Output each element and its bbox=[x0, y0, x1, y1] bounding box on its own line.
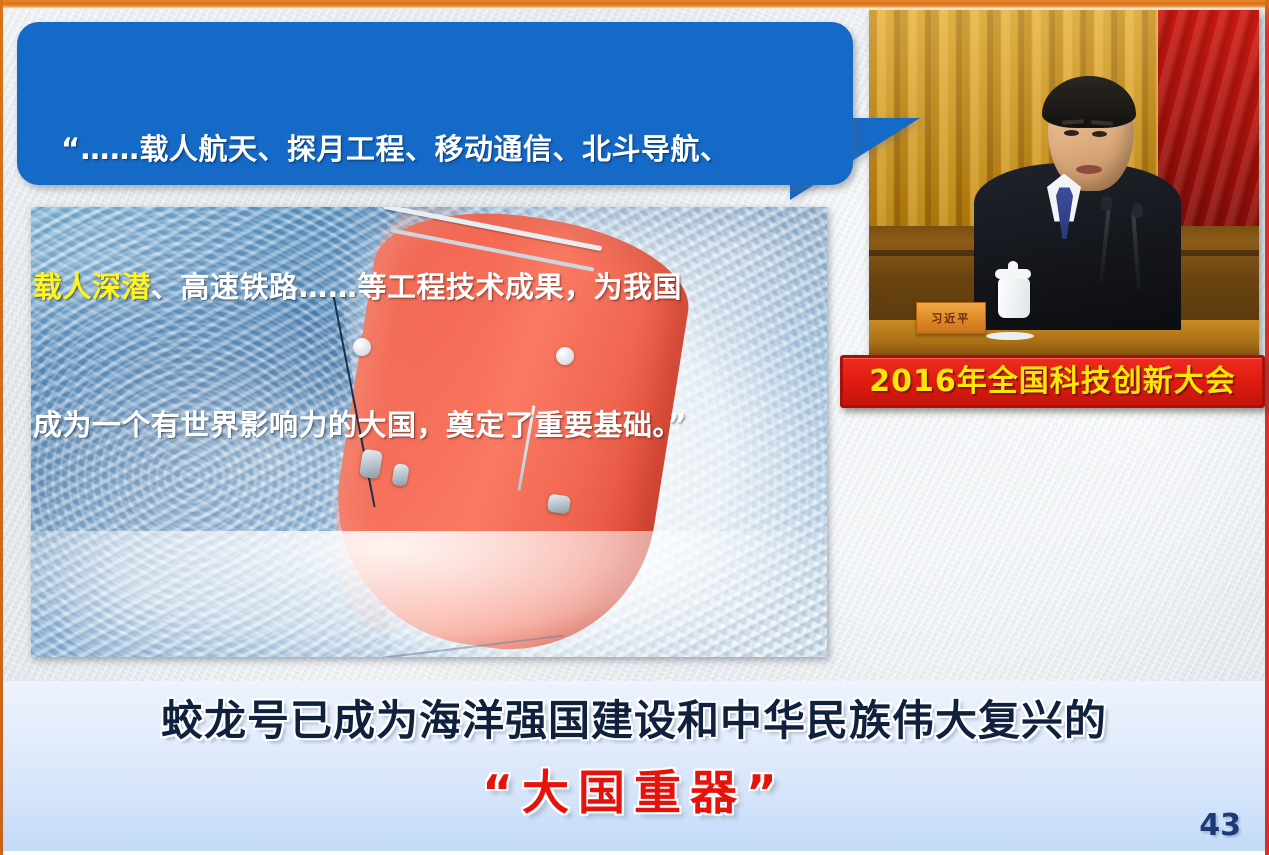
bottom-foam bbox=[31, 531, 827, 657]
conference-banner-label: 2016年全国科技创新大会 bbox=[869, 367, 1236, 397]
quote-line-1: “……载人航天、探月工程、移动通信、北斗导航、 bbox=[33, 126, 837, 172]
caption-line-2: “大国重器” bbox=[3, 765, 1265, 823]
cup-saucer bbox=[986, 332, 1034, 340]
top-orange-band bbox=[0, 0, 1269, 9]
mouth bbox=[1076, 165, 1102, 174]
tea-cup-knob bbox=[1008, 261, 1018, 270]
microphone-head-left bbox=[1101, 196, 1112, 211]
quote-line-2-rest: 、高速铁路……等工程技术成果，为我国 bbox=[151, 270, 682, 304]
tea-cup-lid bbox=[995, 269, 1031, 279]
right-edge-stripe bbox=[1265, 0, 1269, 855]
quote-speech-bubble: “……载人航天、探月工程、移动通信、北斗导航、 载人深潜、高速铁路……等工程技术… bbox=[17, 22, 853, 185]
quote-line-3: 成为一个有世界影响力的大国，奠定了重要基础。” bbox=[33, 402, 837, 448]
desk-nameplate: 习近平 bbox=[916, 302, 986, 334]
microphone-head-right bbox=[1132, 203, 1143, 218]
eye-left bbox=[1064, 130, 1079, 136]
slide-canvas: 习近平 2016年全国科技创新大会 “……载人航天、探月工程、移动通信、北斗导航… bbox=[0, 0, 1269, 855]
quote-line-2: 载人深潜、高速铁路……等工程技术成果，为我国 bbox=[33, 264, 837, 310]
leader-speech-photo: 习近平 bbox=[869, 10, 1259, 358]
tea-cup bbox=[998, 278, 1030, 318]
nameplate-label: 习近平 bbox=[931, 310, 970, 326]
quote-highlight: 载人深潜 bbox=[33, 270, 151, 304]
caption-line-1: 蛟龙号已成为海洋强国建设和中华民族伟大复兴的 bbox=[3, 695, 1265, 747]
conference-banner: 2016年全国科技创新大会 bbox=[840, 355, 1265, 408]
quote-text: “……载人航天、探月工程、移动通信、北斗导航、 载人深潜、高速铁路……等工程技术… bbox=[17, 34, 853, 540]
page-number: 43 bbox=[1199, 808, 1241, 843]
bottom-caption-panel: 蛟龙号已成为海洋强国建设和中华民族伟大复兴的 “大国重器” 43 bbox=[3, 681, 1265, 851]
